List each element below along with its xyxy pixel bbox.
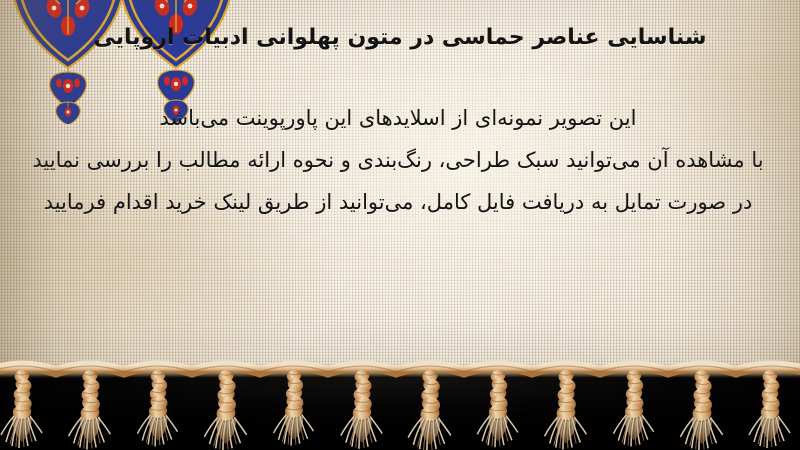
tassel bbox=[477, 368, 518, 447]
tassel bbox=[341, 368, 382, 449]
body-line-3: در صورت تمایل به دریافت فایل کامل، می‌تو… bbox=[10, 192, 786, 213]
tassel bbox=[274, 368, 314, 445]
tassel bbox=[204, 368, 246, 450]
slide-body: این تصویر نمونه‌ای از اسلایدهای این پاور… bbox=[10, 108, 786, 213]
tassel bbox=[680, 368, 722, 450]
presentation-slide: شناسایی عناصر حماسی در متون پهلوانی ادبی… bbox=[0, 0, 800, 450]
tassel bbox=[137, 368, 177, 446]
tassel bbox=[408, 368, 451, 450]
rope-tassel-fringe bbox=[0, 356, 800, 450]
fringe-svg bbox=[0, 356, 800, 450]
tassel bbox=[69, 368, 111, 449]
slide-title: شناسایی عناصر حماسی در متون پهلوانی ادبی… bbox=[10, 24, 790, 52]
body-line-2: با مشاهده آن می‌توانید سبک طراحی، رنگ‌بن… bbox=[10, 150, 786, 171]
body-line-1: این تصویر نمونه‌ای از اسلایدهای این پاور… bbox=[10, 108, 786, 129]
persian-illumination-ornament-left bbox=[8, 0, 128, 124]
tassel bbox=[613, 368, 653, 446]
tassel bbox=[1, 368, 42, 448]
tassel bbox=[749, 368, 790, 448]
tassel bbox=[545, 368, 587, 449]
